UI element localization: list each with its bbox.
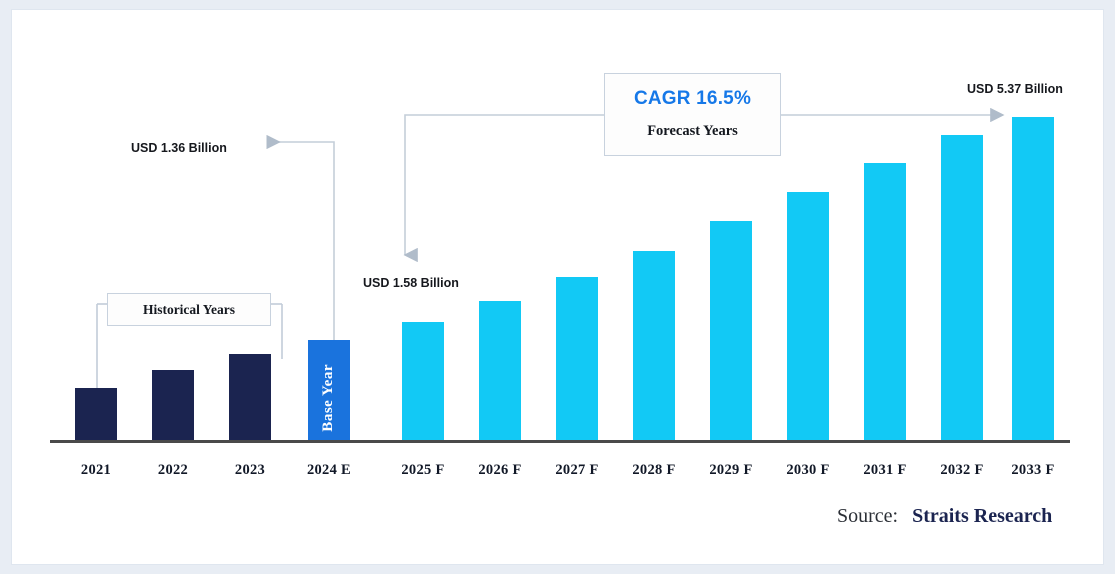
cagr-value-label: CAGR 16.5% xyxy=(605,88,780,110)
source-attribution: Source:Straits Research xyxy=(837,505,1052,528)
base-year-label: Base Year xyxy=(320,364,338,432)
bar-2025[interactable] xyxy=(402,322,444,440)
x-label-2024: 2024 E xyxy=(284,462,374,479)
bar-2027[interactable] xyxy=(556,277,598,440)
bar-2022[interactable] xyxy=(152,370,194,440)
historical-years-box: Historical Years xyxy=(107,293,271,326)
bar-2030[interactable] xyxy=(787,192,829,440)
value-label-2033: USD 5.37 Billion xyxy=(967,82,1063,96)
bar-2033[interactable] xyxy=(1012,117,1054,440)
source-label: Source: xyxy=(837,505,898,527)
chart-card: Base Year 2021 2022 2023 2024 E 2025 F 2… xyxy=(11,9,1104,565)
cagr-forecast-box: CAGR 16.5% Forecast Years xyxy=(604,73,781,156)
bar-2032[interactable] xyxy=(941,135,983,440)
forecast-years-label: Forecast Years xyxy=(605,123,780,140)
bar-2029[interactable] xyxy=(710,221,752,440)
x-axis-line xyxy=(50,440,1070,443)
x-label-2033: 2033 F xyxy=(988,462,1078,479)
bar-2031[interactable] xyxy=(864,163,906,440)
bar-2028[interactable] xyxy=(633,251,675,440)
historical-years-label: Historical Years xyxy=(143,302,235,317)
bar-2021[interactable] xyxy=(75,388,117,440)
bar-chart: Base Year 2021 2022 2023 2024 E 2025 F 2… xyxy=(12,10,1105,566)
value-label-2025: USD 1.58 Billion xyxy=(363,276,459,290)
bar-2023[interactable] xyxy=(229,354,271,440)
source-name: Straits Research xyxy=(912,505,1052,527)
x-label-2023: 2023 xyxy=(205,462,295,479)
value-label-2024: USD 1.36 Billion xyxy=(131,141,227,155)
bar-2024-base-year[interactable]: Base Year xyxy=(308,340,350,440)
bar-2026[interactable] xyxy=(479,301,521,440)
